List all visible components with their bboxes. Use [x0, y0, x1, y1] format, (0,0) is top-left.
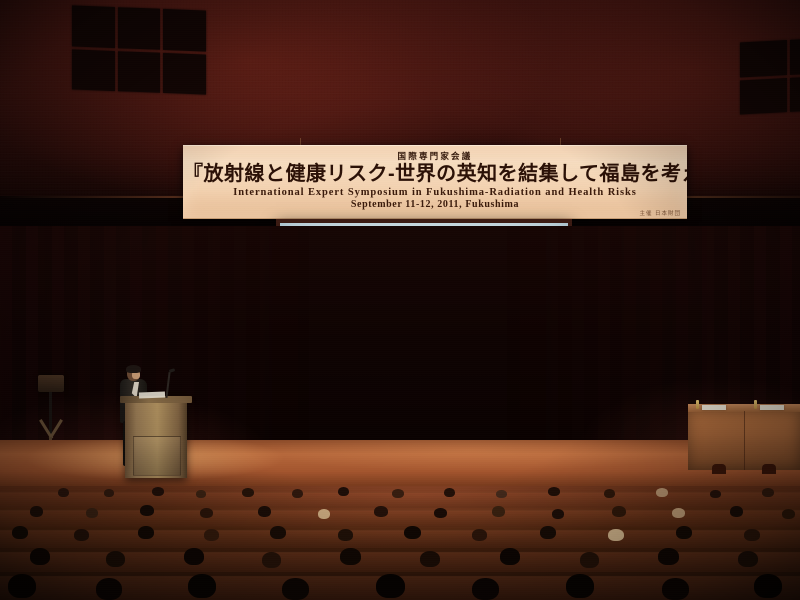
presenter-hair [126, 365, 141, 373]
audience-head [30, 548, 50, 565]
audience-head [444, 488, 455, 497]
audience-head [744, 529, 760, 541]
audience-house [0, 486, 800, 600]
audience-head [58, 488, 69, 497]
audience-head [30, 506, 43, 517]
nameplate-right [760, 405, 784, 410]
chair-back-left [712, 464, 726, 474]
audience-head [196, 490, 206, 498]
audience-head [242, 488, 254, 497]
audience-head [392, 489, 404, 498]
audience-head [604, 489, 615, 498]
audience-head [552, 509, 564, 519]
water-bottle-left [696, 400, 699, 409]
audience-head [338, 487, 349, 496]
wall-panel-grid-left [72, 5, 206, 94]
audience-head [762, 488, 774, 497]
audience-head [658, 548, 679, 565]
audience-head [420, 551, 440, 567]
audience-head-near [282, 578, 309, 600]
audience-head [340, 548, 361, 565]
audience-head-near [376, 574, 405, 598]
audience-head-near [662, 578, 689, 600]
audience-head [434, 508, 447, 518]
audience-head [258, 506, 271, 517]
audience-head-light [672, 508, 685, 518]
audience-head-light [656, 488, 668, 497]
audience-head [580, 552, 599, 568]
audience-head [676, 526, 692, 539]
audience-head [710, 490, 721, 498]
audience-head [338, 529, 353, 541]
audience-head [204, 529, 219, 541]
audience-head [292, 489, 303, 498]
audience-head-near [96, 578, 122, 600]
symposium-banner: 国際専門家会議 『放射線と健康リスク-世界の英知を結集して福島を考える』 Int… [183, 145, 687, 219]
lectern-notes [139, 392, 165, 399]
audience-head [184, 548, 204, 565]
banner-date: September 11-12, 2011, Fukushima [183, 199, 687, 210]
audience-head [548, 487, 560, 496]
audience-head [496, 490, 507, 498]
audience-head [140, 505, 154, 516]
audience-head [730, 506, 743, 517]
audience-head [472, 529, 487, 541]
panel-table [688, 404, 800, 470]
banner-sponsor: 主催 日本財団 [639, 209, 681, 217]
wall-panel-grid-right [740, 37, 800, 114]
audience-head [540, 526, 556, 539]
audience-head [270, 526, 286, 539]
audience-head [500, 548, 520, 565]
audience-head [106, 551, 125, 567]
audience-head [104, 489, 114, 497]
audience-head-light [318, 509, 330, 519]
audience-head [74, 529, 89, 541]
audience-head-near [472, 578, 499, 600]
audience-head [200, 508, 213, 518]
banner-title-english: International Expert Symposium in Fukush… [183, 187, 687, 198]
audience-head-near [188, 574, 216, 598]
water-bottle-right [754, 400, 757, 409]
banner-title-japanese: 『放射線と健康リスク-世界の英知を結集して福島を考える』 [183, 163, 687, 185]
audience-head-near [8, 574, 36, 598]
audience-head [262, 552, 281, 568]
lectern-front-panel [133, 436, 181, 476]
table-seam [744, 411, 745, 470]
audience-head [152, 487, 164, 496]
chair-back-right [762, 464, 776, 474]
audience-head [612, 506, 626, 517]
audience-head [492, 506, 505, 517]
audience-head [138, 526, 154, 539]
audience-head-near [566, 574, 594, 598]
audience-head-light [608, 529, 624, 541]
audience-head [12, 526, 28, 539]
nameplate-left [702, 405, 726, 410]
audience-head [404, 526, 421, 539]
audience-head [738, 551, 758, 567]
banner-kicker: 国際専門家会議 [183, 150, 687, 162]
audience-head [782, 509, 795, 519]
audience-head-near [754, 574, 782, 598]
audience-head [374, 506, 388, 517]
audience-head [86, 508, 98, 518]
auditorium-scene: 国際専門家会議 『放射線と健康リスク-世界の英知を結集して福島を考える』 Int… [0, 0, 800, 600]
